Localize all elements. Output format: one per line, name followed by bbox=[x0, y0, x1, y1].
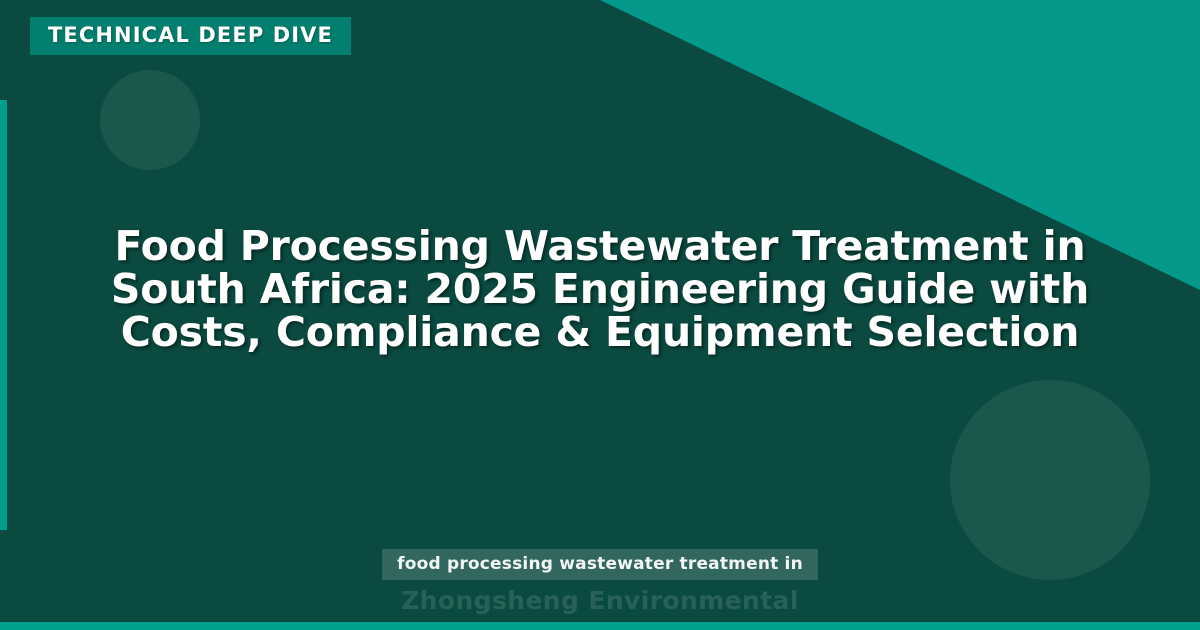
horizontal-accent-bar bbox=[0, 622, 1200, 630]
social-card: TECHNICAL DEEP DIVE Food Processing Wast… bbox=[0, 0, 1200, 630]
keyword-chip: food processing wastewater treatment in bbox=[382, 549, 818, 580]
eyebrow-badge: TECHNICAL DEEP DIVE bbox=[30, 17, 351, 55]
decorative-circle-top-left bbox=[100, 70, 200, 170]
vertical-accent-bar bbox=[0, 100, 7, 530]
page-title: Food Processing Wastewater Treatment in … bbox=[60, 225, 1140, 354]
headline-block: Food Processing Wastewater Treatment in … bbox=[60, 225, 1140, 354]
brand-name: Zhongsheng Environmental bbox=[0, 586, 1200, 616]
footer-group: food processing wastewater treatment in … bbox=[0, 549, 1200, 616]
